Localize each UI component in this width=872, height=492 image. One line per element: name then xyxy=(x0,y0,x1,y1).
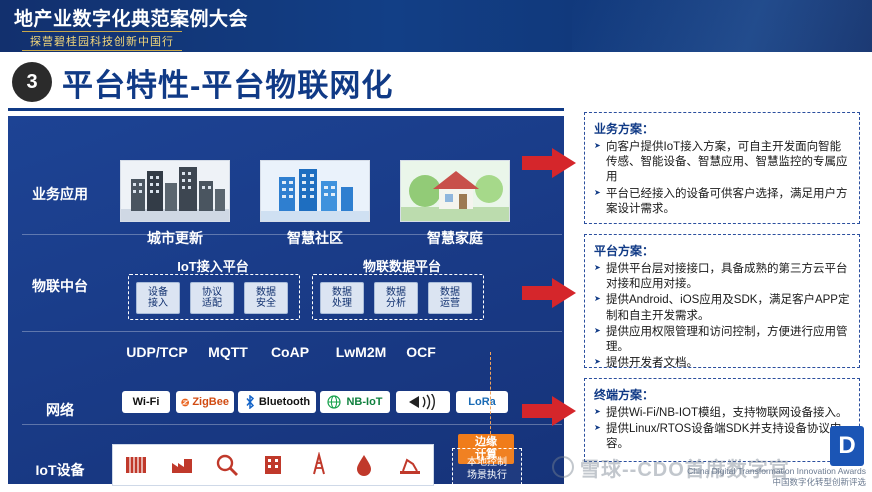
chip-device-access: 设备接入 xyxy=(136,282,180,314)
tower-device-icon xyxy=(306,452,332,478)
award-line-cn: 中国数字化转型创新评选 xyxy=(687,477,866,488)
award-caption: China Digital Transformation Innovation … xyxy=(687,466,866,488)
callout-business-item-1: 向客户提供IoT接入方案，可自主开发面向智能传感、智能设备、智慧应用、智慧监控的… xyxy=(594,140,850,186)
community-buildings-icon xyxy=(261,161,370,222)
callout-platform-item-4: 提供开发者文档。 xyxy=(594,356,850,371)
sensor-search-icon xyxy=(214,452,240,478)
app-caption-city-renewal: 城市更新 xyxy=(115,228,235,248)
zigbee-logo: ZigBee xyxy=(176,391,234,413)
callout-platform-item-2: 提供Android、iOS应用及SDK，满足客户APP定制和自主开发需求。 xyxy=(594,293,850,323)
water-drop-icon xyxy=(351,452,377,478)
slide-root: 地产业数字化典范案例大会 探营碧桂园科技创新中国行 3 平台特性-平台物联网化 … xyxy=(0,0,872,492)
lora-logo-text: LoRa xyxy=(468,396,496,408)
app-caption-smart-community: 智慧社区 xyxy=(255,228,375,248)
smart-home-icon xyxy=(401,161,510,222)
arrow-to-terminal-callout xyxy=(522,396,576,426)
bluetooth-icon xyxy=(244,395,256,409)
callout-business-list: 向客户提供IoT接入方案，可自主开发面向智能传感、智能设备、智慧应用、智慧监控的… xyxy=(594,140,850,217)
architecture-panel: 业务应用 xyxy=(8,116,564,484)
oil-pump-icon xyxy=(397,452,423,478)
protocol-coap: CoAP xyxy=(260,344,320,360)
row-label-network: 网络 xyxy=(24,400,96,420)
app-card-smart-community xyxy=(260,160,370,222)
zigbee-logo-text: ZigBee xyxy=(192,396,229,408)
app-caption-smart-home: 智慧家庭 xyxy=(395,228,515,248)
protocol-udp-tcp: UDP/TCP xyxy=(118,344,196,360)
page-title: 平台特性-平台物联网化 xyxy=(62,60,393,105)
callout-terminal-title: 终端方案： xyxy=(594,386,850,403)
bluetooth-logo: Bluetooth xyxy=(238,391,316,413)
zigbee-icon xyxy=(181,396,189,409)
group-title-iot-access: IoT接入平台 xyxy=(138,256,288,275)
watermark-circle-icon xyxy=(552,456,574,478)
callout-terminal-list: 提供Wi-Fi/NB-IOT模组，支持物联网设备接入。 提供Linux/RTOS… xyxy=(594,406,850,453)
callout-business-item-2: 平台已经接入的设备可供客户选择，满足用户方案设计需求。 xyxy=(594,187,850,217)
callout-platform-item-1: 提供平台层对接接口，具备成熟的第三方云平台对接和应用对接。 xyxy=(594,262,850,292)
radiator-device-icon xyxy=(123,452,149,478)
city-buildings-icon xyxy=(121,161,230,222)
chip-protocol-adapt: 协议适配 xyxy=(190,282,234,314)
banner-decoration xyxy=(572,0,872,52)
row-label-business-apps: 业务应用 xyxy=(24,184,96,204)
arrow-to-business-callout xyxy=(522,148,576,178)
callout-platform-plan: 平台方案： 提供平台层对接接口，具备成熟的第三方云平台对接和应用对接。 提供An… xyxy=(584,234,860,368)
antenna-signal-icon xyxy=(403,394,443,410)
nbiot-globe-icon xyxy=(327,395,343,409)
wifi-logo-text: Wi-Fi xyxy=(133,396,160,408)
chip-data-analysis: 数据分析 xyxy=(374,282,418,314)
callout-platform-list: 提供平台层对接接口，具备成熟的第三方云平台对接和应用对接。 提供Android、… xyxy=(594,262,850,371)
chip-data-security: 数据安全 xyxy=(244,282,288,314)
signal-logo xyxy=(396,391,450,413)
nbiot-logo-text: NB-IoT xyxy=(346,396,382,408)
title-divider xyxy=(8,108,564,111)
nbiot-logo: NB-IoT xyxy=(320,391,390,413)
row-label-iot-devices: IoT设备 xyxy=(24,460,96,480)
chip-data-processing: 数据处理 xyxy=(320,282,364,314)
callout-platform-title: 平台方案： xyxy=(594,242,850,259)
edge-local-note: 本地控制场景执行 xyxy=(452,448,522,490)
row-label-iot-platform: 物联中台 xyxy=(24,276,96,296)
banner-subtitle: 探营碧桂园科技创新中国行 xyxy=(22,31,182,51)
chip-data-operation: 数据运营 xyxy=(428,282,472,314)
wifi-logo: Wi-Fi xyxy=(122,391,170,413)
row-separator-3 xyxy=(22,424,562,425)
banner-title: 地产业数字化典范案例大会 xyxy=(14,4,248,31)
protocol-lwm2m: LwM2M xyxy=(326,344,396,360)
group-title-iot-data: 物联数据平台 xyxy=(322,256,482,275)
protocol-ocf: OCF xyxy=(396,344,446,360)
callout-business-title: 业务方案： xyxy=(594,120,850,137)
building-device-icon xyxy=(260,452,286,478)
section-number-badge: 3 xyxy=(12,62,52,102)
callout-terminal-item-2: 提供Linux/RTOS设备端SDK并支持设备协议内容。 xyxy=(594,422,850,452)
brand-logo: D xyxy=(830,426,864,466)
app-card-smart-home xyxy=(400,160,510,222)
bluetooth-logo-text: Bluetooth xyxy=(259,396,310,408)
protocol-mqtt: MQTT xyxy=(198,344,258,360)
award-line-en: China Digital Transformation Innovation … xyxy=(687,466,866,477)
app-card-city-renewal xyxy=(120,160,230,222)
row-separator-2 xyxy=(22,331,562,332)
callout-platform-item-3: 提供应用权限管理和访问控制，方便进行应用管理。 xyxy=(594,325,850,355)
edge-connector-line xyxy=(490,352,491,434)
arrow-to-platform-callout xyxy=(522,278,576,308)
callout-terminal-item-1: 提供Wi-Fi/NB-IOT模组，支持物联网设备接入。 xyxy=(594,406,850,421)
device-icon-strip xyxy=(112,444,434,486)
top-banner: 地产业数字化典范案例大会 探营碧桂园科技创新中国行 xyxy=(0,0,872,52)
factory-device-icon xyxy=(169,452,195,478)
lora-logo: LoRa xyxy=(456,391,508,413)
callout-business-plan: 业务方案： 向客户提供IoT接入方案，可自主开发面向智能传感、智能设备、智慧应用… xyxy=(584,112,860,224)
